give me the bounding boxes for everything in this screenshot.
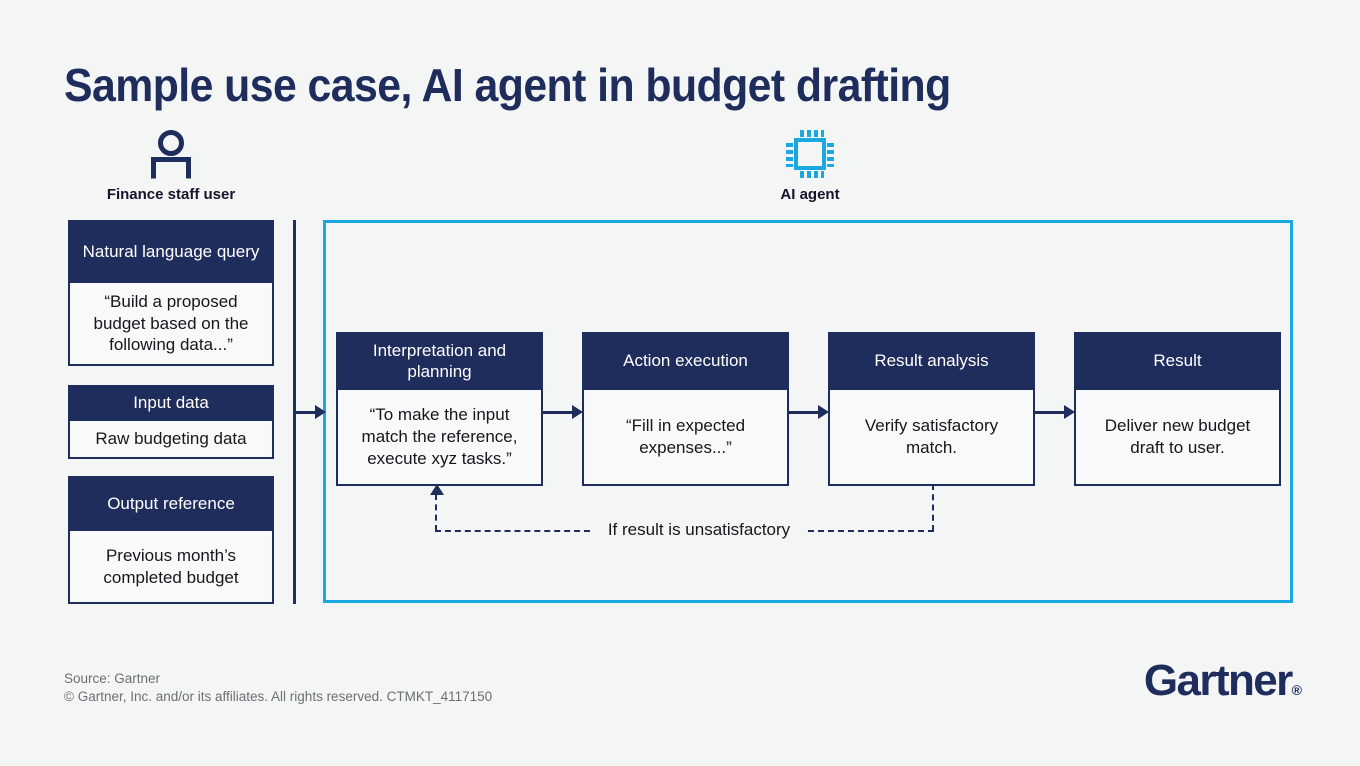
card-header: Output reference (68, 476, 274, 531)
card-result-analysis: Result analysis Verify satisfactory matc… (828, 332, 1035, 486)
card-interpretation-and-planning: Interpretation and planning “To make the… (336, 332, 543, 486)
card-body: “Build a proposed budget based on the fo… (68, 283, 274, 366)
arrow-shaft (294, 411, 315, 414)
person-icon (68, 128, 274, 180)
feedback-label: If result is unsatisfactory (592, 520, 806, 540)
footer: Source: Gartner © Gartner, Inc. and/or i… (64, 670, 492, 706)
card-header: Action execution (582, 332, 789, 390)
footer-copyright: © Gartner, Inc. and/or its affiliates. A… (64, 688, 492, 706)
actor-user-label: Finance staff user (68, 186, 274, 203)
card-body: Deliver new budget draft to user. (1074, 390, 1281, 486)
page-title: Sample use case, AI agent in budget draf… (64, 58, 951, 112)
footer-source: Source: Gartner (64, 670, 492, 688)
chip-icon (620, 128, 1000, 180)
card-header: Natural language query (68, 220, 274, 283)
arrow-head (315, 405, 326, 419)
actor-ai-agent: AI agent (620, 128, 1000, 203)
arrow-action-to-analysis (789, 405, 829, 419)
arrow-shaft (1035, 411, 1064, 414)
card-body: “Fill in expected expenses...” (582, 390, 789, 486)
arrow-shaft (543, 411, 572, 414)
feedback-horizontal-right-segment (808, 530, 934, 532)
arrow-analysis-to-result (1035, 405, 1075, 419)
card-body: Raw budgeting data (68, 421, 274, 459)
arrow-user-to-agent (294, 405, 326, 419)
gartner-logo-text: Gartner (1144, 656, 1292, 705)
registered-trademark-icon: ® (1292, 682, 1302, 698)
card-header: Result (1074, 332, 1281, 390)
feedback-arrow-head (430, 484, 444, 495)
card-output-reference: Output reference Previous month’s comple… (68, 476, 274, 604)
card-action-execution: Action execution “Fill in expected expen… (582, 332, 789, 486)
card-header: Result analysis (828, 332, 1035, 390)
card-body: Previous month’s completed budget (68, 531, 274, 604)
card-natural-language-query: Natural language query “Build a proposed… (68, 220, 274, 366)
slide-canvas: Sample use case, AI agent in budget draf… (0, 0, 1360, 766)
feedback-horizontal-left-segment (435, 530, 590, 532)
feedback-right-segment (932, 484, 934, 531)
card-body: Verify satisfactory match. (828, 390, 1035, 486)
gartner-logo: Gartner® (1144, 656, 1302, 706)
card-body: “To make the input match the reference, … (336, 390, 543, 486)
feedback-left-segment (435, 494, 437, 531)
card-input-data: Input data Raw budgeting data (68, 385, 274, 459)
card-header: Input data (68, 385, 274, 421)
actor-agent-label: AI agent (620, 186, 1000, 203)
card-result: Result Deliver new budget draft to user. (1074, 332, 1281, 486)
card-header: Interpretation and planning (336, 332, 543, 390)
actor-finance-staff-user: Finance staff user (68, 128, 274, 203)
arrow-shaft (789, 411, 818, 414)
arrow-interpretation-to-action (543, 405, 583, 419)
